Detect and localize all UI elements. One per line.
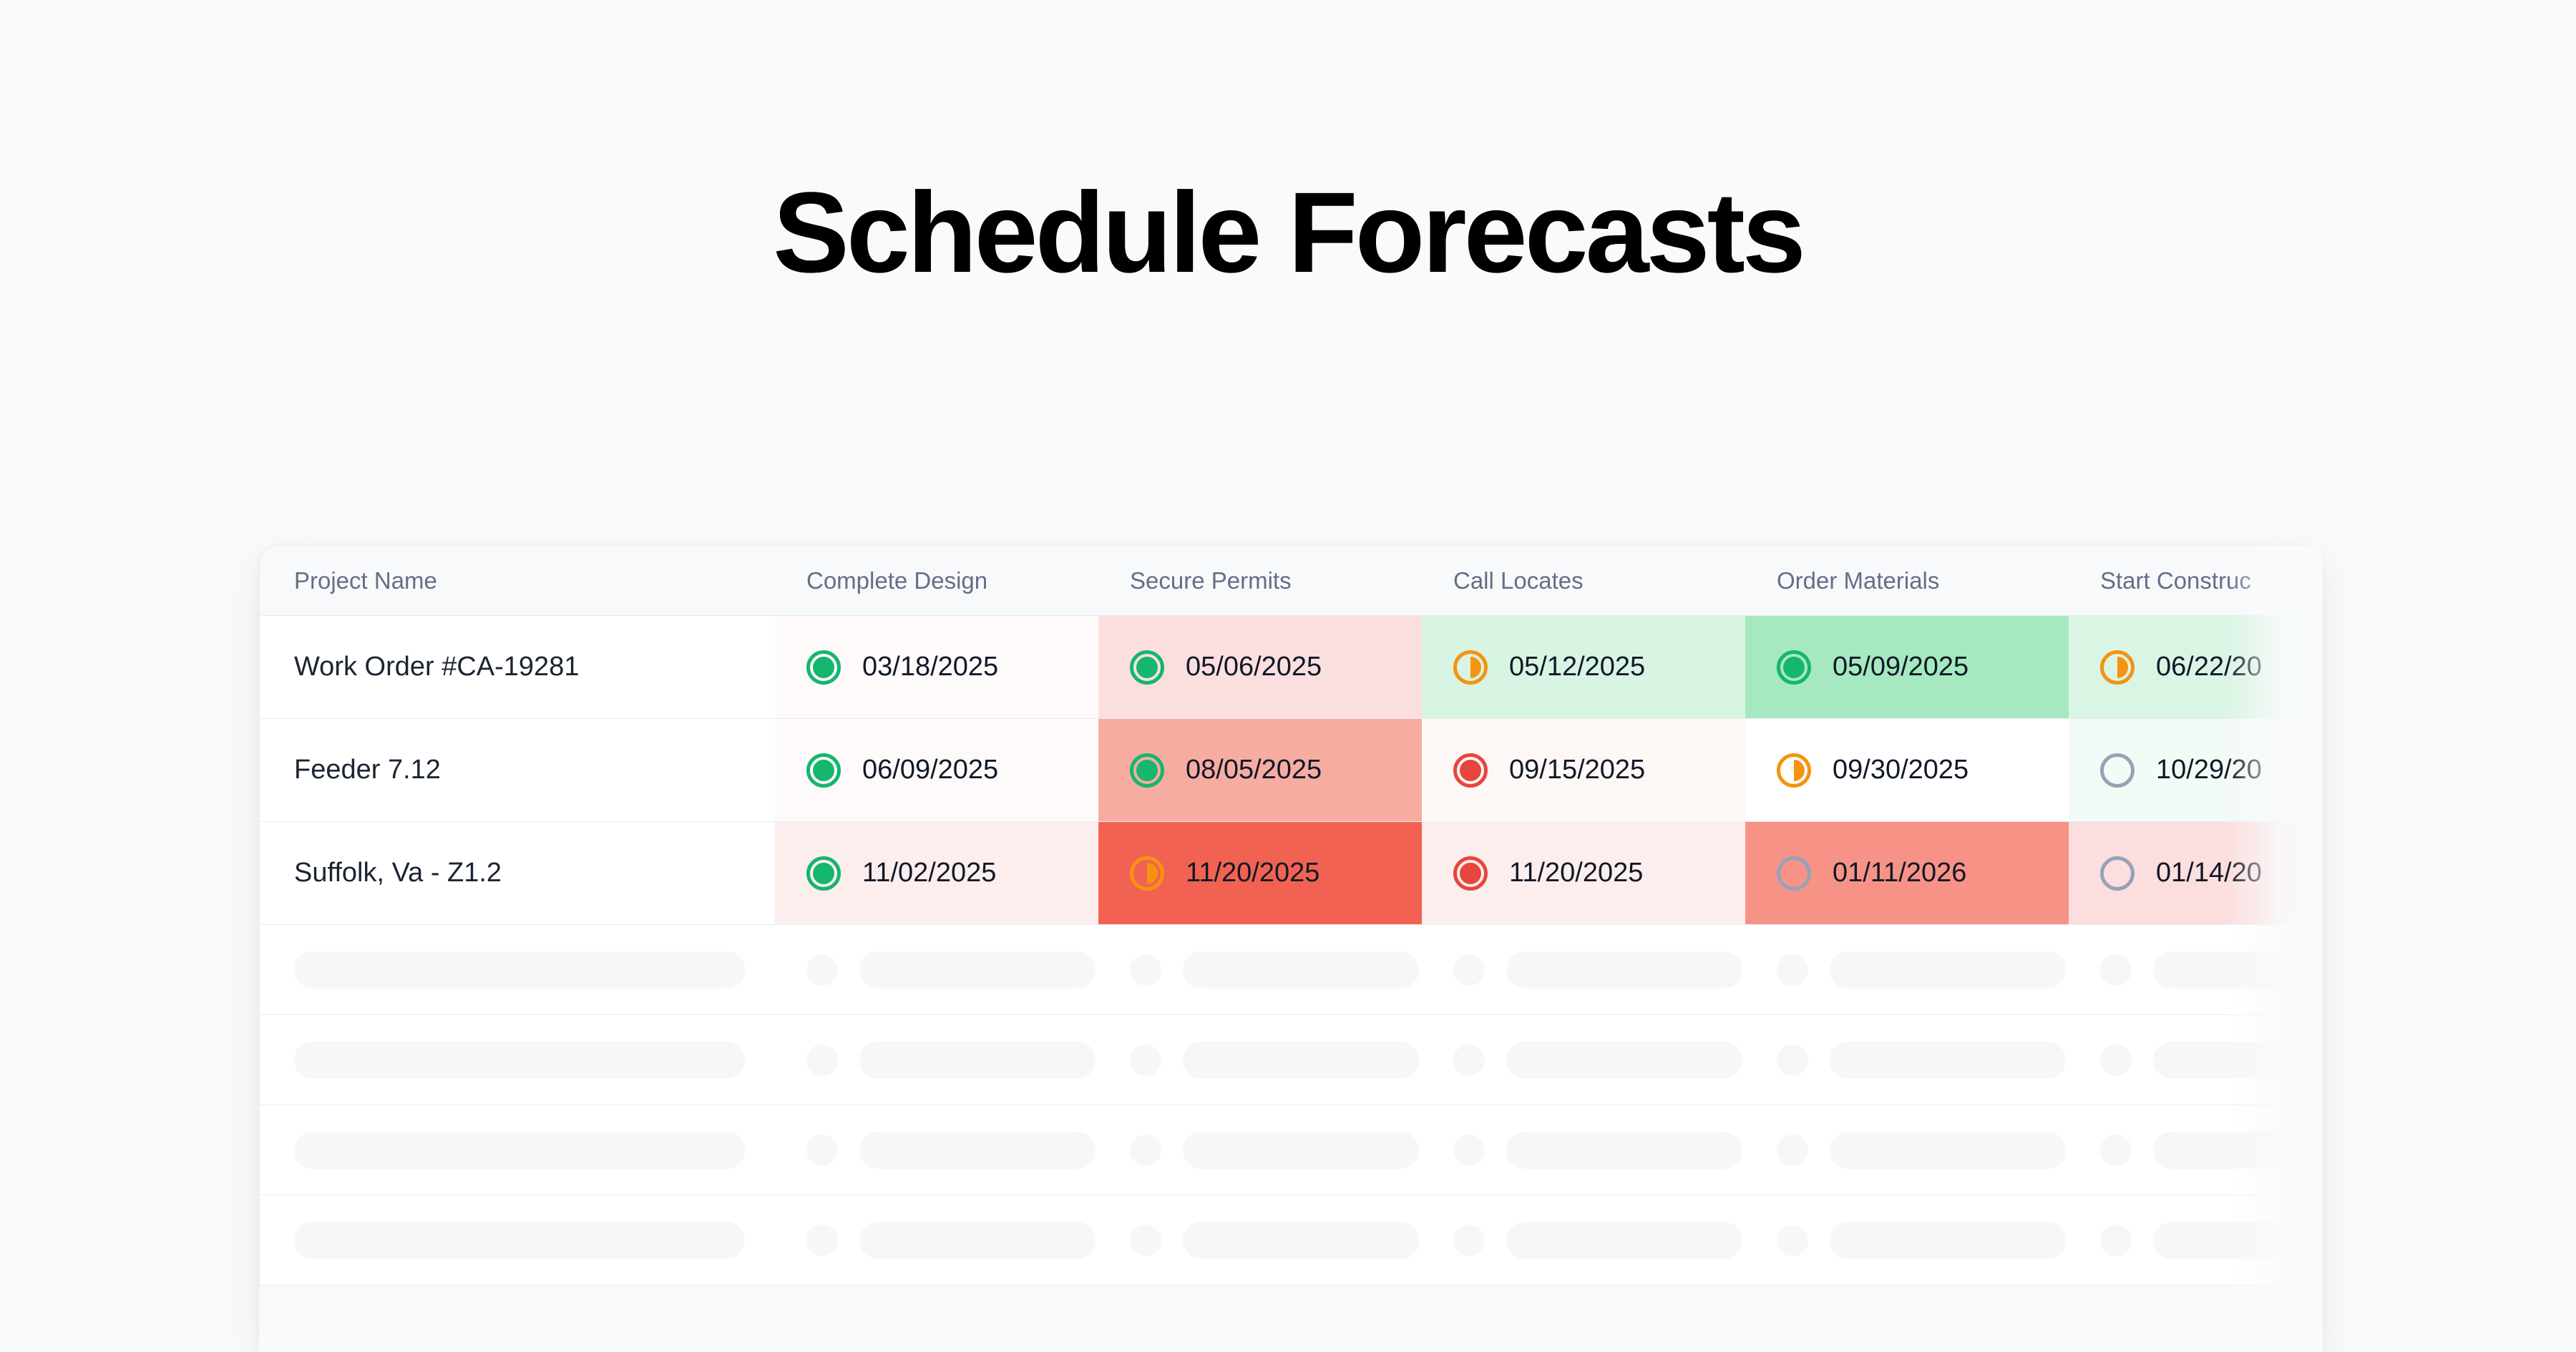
placeholder-rows xyxy=(260,925,2320,1285)
cell-call-locates[interactable]: 11/20/2025 xyxy=(1422,822,1745,924)
placeholder-bar xyxy=(859,1132,1096,1169)
status-icon-partial xyxy=(1453,650,1488,685)
placeholder-cell xyxy=(1098,1105,1422,1195)
placeholder-status-icon xyxy=(1453,1044,1485,1076)
placeholder-bar xyxy=(2153,951,2320,989)
table-viewport[interactable]: Project Name Complete Design Secure Perm… xyxy=(259,545,2320,1352)
placeholder-bar xyxy=(1183,951,1419,989)
cell-secure-permits[interactable]: 11/20/2025 xyxy=(1098,822,1422,924)
cell-date: 09/15/2025 xyxy=(1509,755,1645,785)
column-header-order-materials[interactable]: Order Materials xyxy=(1745,546,2069,615)
cell-call-locates[interactable]: 05/12/2025 xyxy=(1422,616,1745,718)
placeholder-status-icon xyxy=(1130,1225,1161,1256)
status-icon-partial xyxy=(1777,753,1811,788)
placeholder-bar xyxy=(1830,1132,2066,1169)
placeholder-cell xyxy=(775,1195,1098,1285)
status-icon-done xyxy=(806,753,841,788)
cell-date: 08/05/2025 xyxy=(1186,755,1322,785)
placeholder-cell xyxy=(2069,925,2320,1014)
column-header-secure-permits[interactable]: Secure Permits xyxy=(1098,546,1422,615)
placeholder-status-icon xyxy=(2100,1135,2132,1166)
cell-secure-permits[interactable]: 08/05/2025 xyxy=(1098,719,1422,821)
cell-order-materials[interactable]: 01/11/2026 xyxy=(1745,822,2069,924)
cell-complete-design[interactable]: 11/02/2025 xyxy=(775,822,1098,924)
placeholder-cell xyxy=(1745,1105,2069,1195)
placeholder-status-icon xyxy=(2100,1044,2132,1076)
cell-date: 10/29/20 xyxy=(2156,755,2262,785)
placeholder-cell xyxy=(260,1195,775,1285)
status-icon-late xyxy=(1453,856,1488,891)
placeholder-bar xyxy=(2153,1222,2320,1259)
placeholder-status-icon xyxy=(1453,954,1485,986)
cell-call-locates[interactable]: 09/15/2025 xyxy=(1422,719,1745,821)
placeholder-status-icon xyxy=(1130,954,1161,986)
cell-date: 03/18/2025 xyxy=(862,652,998,682)
placeholder-cell xyxy=(1422,1195,1745,1285)
placeholder-status-icon xyxy=(1777,1135,1808,1166)
placeholder-cell xyxy=(2069,1105,2320,1195)
table-row[interactable]: Suffolk, Va - Z1.2 11/02/2025 11/20/2025… xyxy=(260,822,2320,925)
placeholder-bar xyxy=(1830,1222,2066,1259)
placeholder-status-icon xyxy=(2100,1225,2132,1256)
placeholder-bar xyxy=(2153,1132,2320,1169)
placeholder-cell xyxy=(775,1015,1098,1104)
placeholder-cell xyxy=(1745,925,2069,1014)
status-icon-partial xyxy=(1130,856,1164,891)
schedule-forecasts-table: Project Name Complete Design Secure Perm… xyxy=(259,545,2320,1285)
placeholder-bar xyxy=(2153,1042,2320,1079)
column-header-complete-design[interactable]: Complete Design xyxy=(775,546,1098,615)
placeholder-bar xyxy=(859,1222,1096,1259)
cell-order-materials[interactable]: 05/09/2025 xyxy=(1745,616,2069,718)
placeholder-bar xyxy=(859,1042,1096,1079)
placeholder-status-icon xyxy=(806,1225,838,1256)
status-icon-empty xyxy=(1777,856,1811,891)
placeholder-bar xyxy=(1506,1222,1742,1259)
status-icon-empty xyxy=(2100,753,2135,788)
placeholder-bar xyxy=(1506,951,1742,989)
column-header-start-construction[interactable]: Start Construc xyxy=(2069,546,2320,615)
cell-complete-design[interactable]: 06/09/2025 xyxy=(775,719,1098,821)
placeholder-cell xyxy=(260,1015,775,1104)
placeholder-row xyxy=(260,925,2320,1015)
status-icon-done xyxy=(806,650,841,685)
placeholder-status-icon xyxy=(1130,1044,1161,1076)
cell-date: 05/09/2025 xyxy=(1833,652,1968,682)
placeholder-cell xyxy=(775,925,1098,1014)
cell-date: 05/06/2025 xyxy=(1186,652,1322,682)
placeholder-bar xyxy=(1506,1132,1742,1169)
placeholder-cell xyxy=(2069,1195,2320,1285)
placeholder-status-icon xyxy=(1777,1225,1808,1256)
cell-start-construction[interactable]: 01/14/20 xyxy=(2069,822,2320,924)
placeholder-cell xyxy=(260,925,775,1014)
placeholder-status-icon xyxy=(1777,954,1808,986)
placeholder-bar xyxy=(1506,1042,1742,1079)
cell-date: 01/14/20 xyxy=(2156,858,2262,888)
cell-date: 06/22/20 xyxy=(2156,652,2262,682)
placeholder-bar xyxy=(294,1132,745,1169)
placeholder-status-icon xyxy=(806,1044,838,1076)
placeholder-cell xyxy=(1422,1015,1745,1104)
placeholder-bar xyxy=(1830,1042,2066,1079)
table-header-row: Project Name Complete Design Secure Perm… xyxy=(260,546,2320,616)
placeholder-row xyxy=(260,1105,2320,1195)
placeholder-bar xyxy=(859,951,1096,989)
placeholder-bar xyxy=(1183,1132,1419,1169)
page-title: Schedule Forecasts xyxy=(0,0,2576,290)
placeholder-status-icon xyxy=(1453,1135,1485,1166)
placeholder-bar xyxy=(294,1042,745,1079)
placeholder-bar xyxy=(294,1222,745,1259)
cell-project-name: Work Order #CA-19281 xyxy=(260,616,775,718)
status-icon-done xyxy=(1130,753,1164,788)
table-row[interactable]: Feeder 7.12 06/09/2025 08/05/2025 09/15/… xyxy=(260,719,2320,822)
cell-order-materials[interactable]: 09/30/2025 xyxy=(1745,719,2069,821)
placeholder-cell xyxy=(1098,925,1422,1014)
cell-date: 11/02/2025 xyxy=(862,858,996,888)
status-icon-done xyxy=(1777,650,1811,685)
placeholder-cell xyxy=(260,1105,775,1195)
cell-secure-permits[interactable]: 05/06/2025 xyxy=(1098,616,1422,718)
cell-date: 11/20/2025 xyxy=(1509,858,1643,888)
placeholder-cell xyxy=(1098,1195,1422,1285)
cell-project-name: Suffolk, Va - Z1.2 xyxy=(260,822,775,924)
placeholder-status-icon xyxy=(806,1135,838,1166)
placeholder-cell xyxy=(775,1105,1098,1195)
placeholder-status-icon xyxy=(806,954,838,986)
placeholder-row xyxy=(260,1195,2320,1285)
status-icon-partial xyxy=(2100,650,2135,685)
placeholder-cell xyxy=(1422,925,1745,1014)
placeholder-bar xyxy=(1183,1222,1419,1259)
placeholder-cell xyxy=(2069,1015,2320,1104)
placeholder-cell xyxy=(1745,1195,2069,1285)
placeholder-status-icon xyxy=(2100,954,2132,986)
status-icon-done xyxy=(806,856,841,891)
status-icon-empty xyxy=(2100,856,2135,891)
cell-date: 11/20/2025 xyxy=(1186,858,1319,888)
placeholder-bar xyxy=(1830,951,2066,989)
placeholder-bar xyxy=(1183,1042,1419,1079)
cell-date: 01/11/2026 xyxy=(1833,858,1966,888)
placeholder-status-icon xyxy=(1453,1225,1485,1256)
cell-start-construction[interactable]: 10/29/20 xyxy=(2069,719,2320,821)
cell-complete-design[interactable]: 03/18/2025 xyxy=(775,616,1098,718)
placeholder-row xyxy=(260,1015,2320,1105)
placeholder-bar xyxy=(294,951,745,989)
cell-date: 09/30/2025 xyxy=(1833,755,1968,785)
placeholder-status-icon xyxy=(1130,1135,1161,1166)
cell-date: 06/09/2025 xyxy=(862,755,998,785)
placeholder-cell xyxy=(1098,1015,1422,1104)
placeholder-cell xyxy=(1745,1015,2069,1104)
column-header-call-locates[interactable]: Call Locates xyxy=(1422,546,1745,615)
column-header-project-name[interactable]: Project Name xyxy=(260,546,775,615)
table-row[interactable]: Work Order #CA-19281 03/18/2025 05/06/20… xyxy=(260,616,2320,719)
cell-date: 05/12/2025 xyxy=(1509,652,1645,682)
cell-project-name: Feeder 7.12 xyxy=(260,719,775,821)
status-icon-late xyxy=(1453,753,1488,788)
status-icon-done xyxy=(1130,650,1164,685)
placeholder-status-icon xyxy=(1777,1044,1808,1076)
placeholder-cell xyxy=(1422,1105,1745,1195)
cell-start-construction[interactable]: 06/22/20 xyxy=(2069,616,2320,718)
